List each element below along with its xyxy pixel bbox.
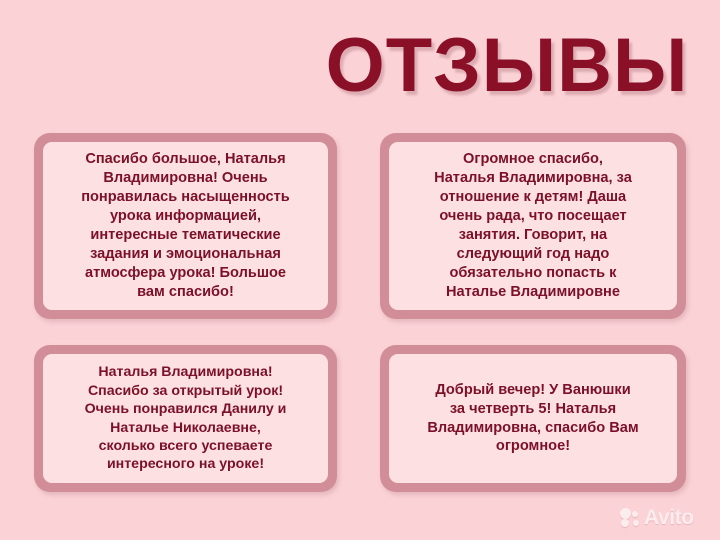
- reviews-grid: Спасибо большое, Наталья Владимировна! О…: [34, 133, 686, 492]
- avito-dots-icon: [620, 508, 641, 527]
- review-poster: ОТЗЫВЫ Спасибо большое, Наталья Владимир…: [0, 0, 720, 540]
- review-text: Спасибо большое, Наталья Владимировна! О…: [53, 150, 318, 302]
- avito-watermark-label: Avito: [644, 507, 694, 528]
- review-card-body: Спасибо большое, Наталья Владимировна! О…: [43, 142, 328, 310]
- avito-dot-large: [620, 508, 631, 519]
- review-card: Спасибо большое, Наталья Владимировна! О…: [34, 133, 337, 319]
- review-card-body: Добрый вечер! У Ванюшки за четверть 5! Н…: [389, 354, 677, 483]
- avito-dot-small-bottom: [633, 520, 639, 526]
- avito-watermark: Avito: [620, 503, 706, 531]
- review-text: Наталья Владимировна! Спасибо за открыты…: [53, 363, 318, 474]
- review-text: Огромное спасибо, Наталья Владимировна, …: [399, 150, 667, 302]
- review-card: Огромное спасибо, Наталья Владимировна, …: [380, 133, 686, 319]
- avito-dot-small-top: [632, 511, 638, 517]
- review-card-body: Огромное спасибо, Наталья Владимировна, …: [389, 142, 677, 310]
- review-card: Добрый вечер! У Ванюшки за четверть 5! Н…: [380, 345, 686, 492]
- review-text: Добрый вечер! У Ванюшки за четверть 5! Н…: [399, 381, 667, 457]
- review-card-body: Наталья Владимировна! Спасибо за открыты…: [43, 354, 328, 483]
- avito-dot-medium: [621, 519, 629, 527]
- review-card: Наталья Владимировна! Спасибо за открыты…: [34, 345, 337, 492]
- page-title: ОТЗЫВЫ: [318, 22, 696, 110]
